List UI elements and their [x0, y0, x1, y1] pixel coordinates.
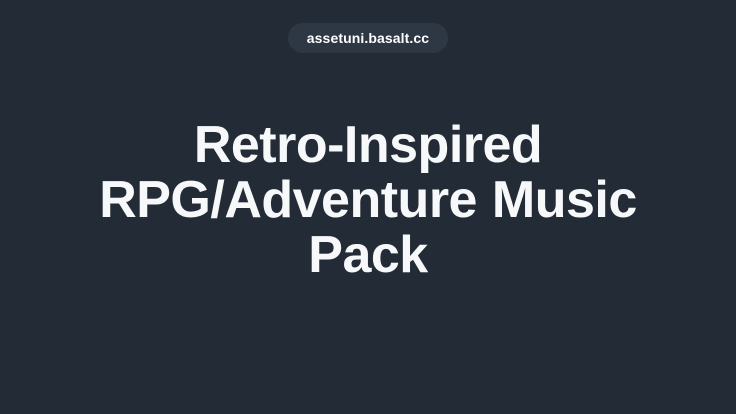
page-title-line-2: RPG/Adventure Music — [60, 173, 676, 228]
page-title-line-3: Pack — [60, 228, 676, 283]
page-title: Retro-Inspired RPG/Adventure Music Pack — [60, 118, 676, 283]
page-title-line-1: Retro-Inspired — [60, 118, 676, 173]
hero-section: Retro-Inspired RPG/Adventure Music Pack — [0, 118, 736, 283]
page-root: assetuni.basalt.cc Retro-Inspired RPG/Ad… — [0, 0, 736, 414]
site-domain-pill[interactable]: assetuni.basalt.cc — [288, 23, 448, 53]
url-bar: assetuni.basalt.cc — [0, 23, 736, 53]
